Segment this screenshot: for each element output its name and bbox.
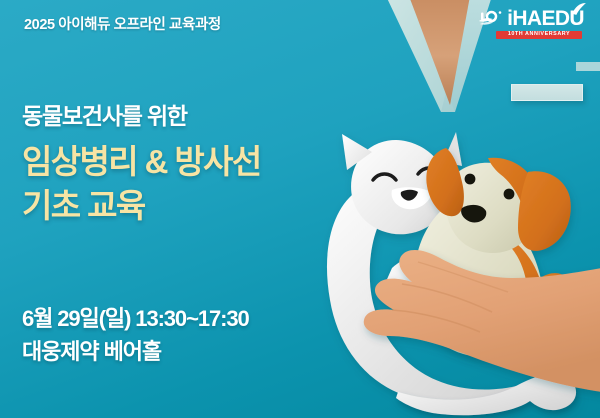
poster-title-line-2: 기초 교육 (22, 184, 374, 228)
poster-subtitle: 동물보건사를 위한 (22, 103, 374, 130)
poster-canvas: 2025 아이해듀 오프라인 교육과정 iHAEDU 10TH ANNIVERS… (0, 0, 600, 418)
event-info-block: 6월 29일(일) 13:30~17:30 대웅제약 베어홀 (22, 302, 352, 368)
event-date: 6월 29일(일) 13:30~17:30 (22, 302, 352, 335)
event-venue: 대웅제약 베어홀 (22, 335, 352, 368)
headline-block: 동물보건사를 위한 임상병리 & 방사선 기초 교육 (22, 103, 374, 228)
poster-title-line-1: 임상병리 & 방사선 (22, 140, 374, 184)
